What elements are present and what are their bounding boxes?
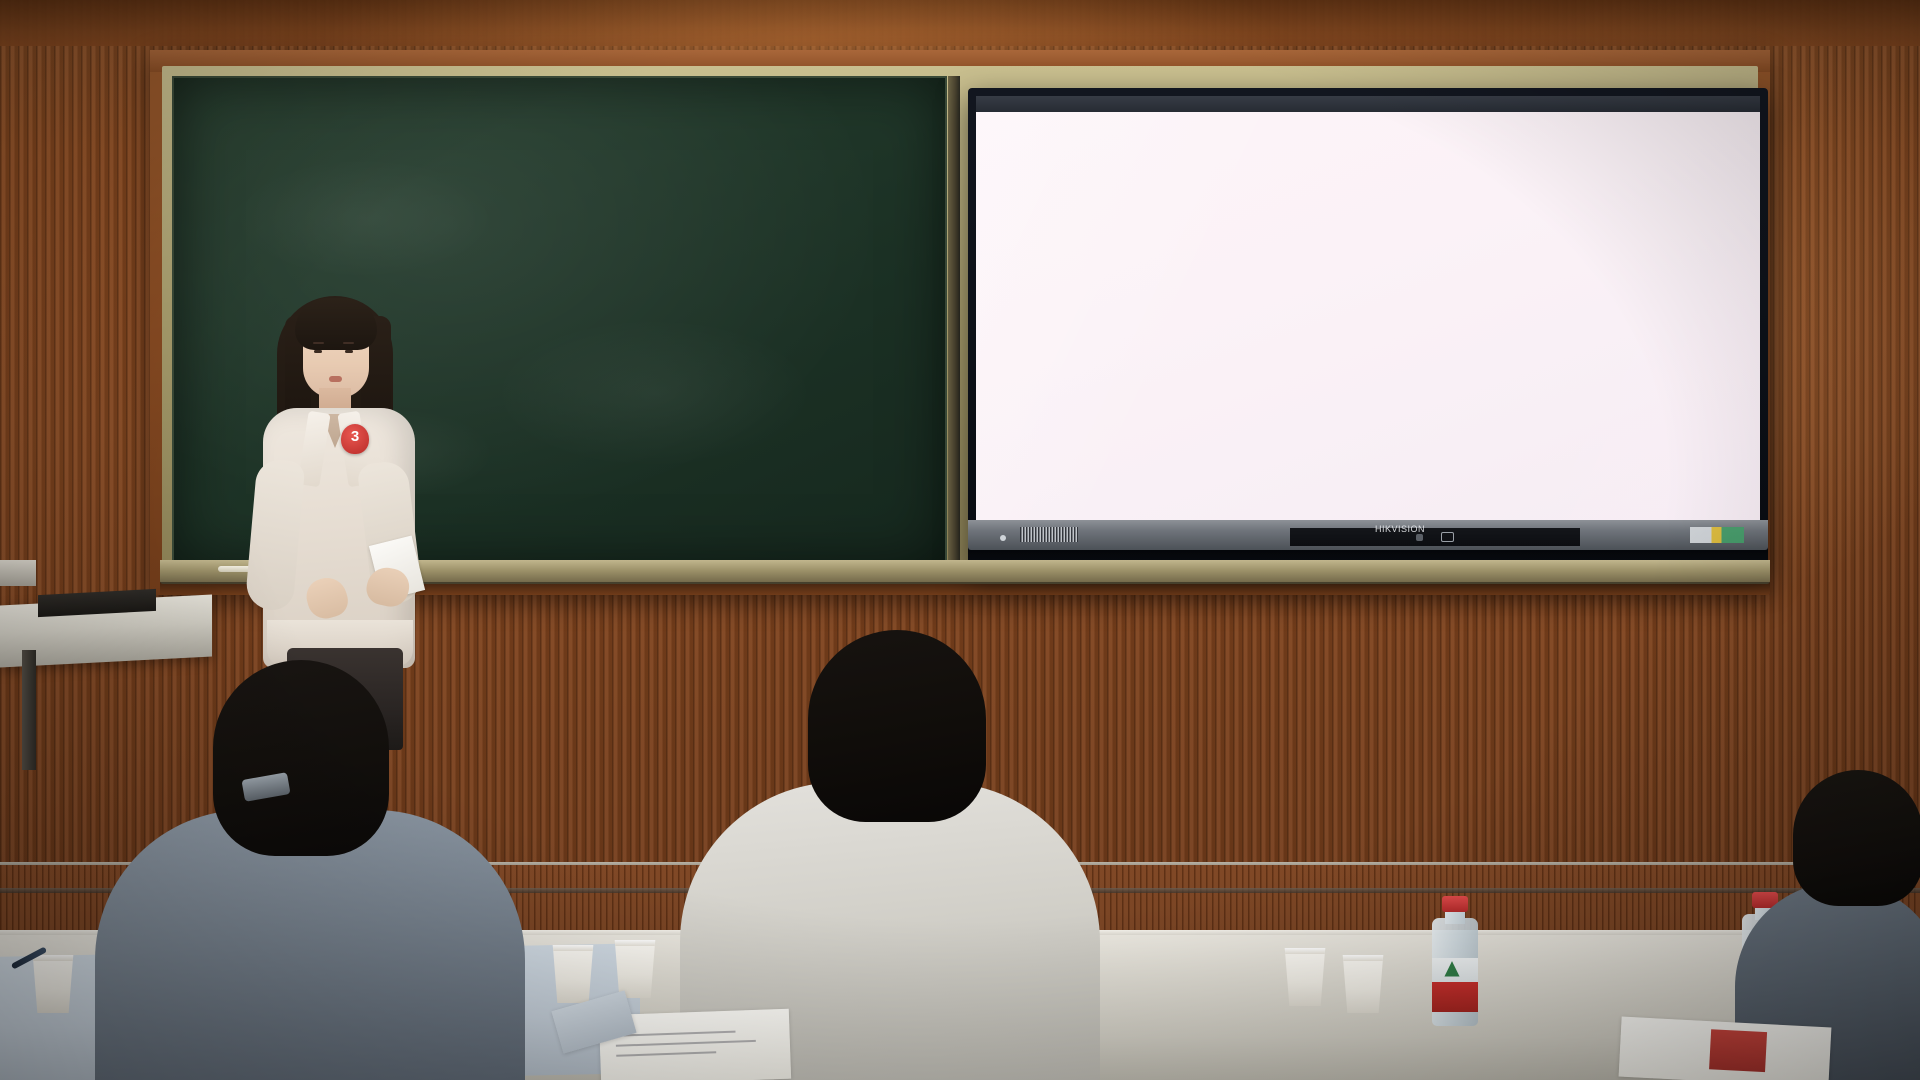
display-brand-logo: HIKVISION xyxy=(1330,524,1470,537)
shelf-support-post xyxy=(22,650,36,770)
classroom-scene: Teaching Context Teaching Objectives Tea… xyxy=(0,0,1920,1080)
display-energy-label xyxy=(1690,527,1744,543)
paper-cup[interactable] xyxy=(612,940,658,998)
paper-cup[interactable] xyxy=(550,945,596,1003)
water-bottle[interactable] xyxy=(1432,896,1478,1026)
teacher-badge-number: 3 xyxy=(341,428,369,445)
teacher-eyebrow-right xyxy=(343,342,354,344)
teacher-mouth xyxy=(329,376,342,382)
bottle-cap[interactable] xyxy=(1442,896,1468,912)
audience-member-front-left xyxy=(95,660,525,1080)
paper-cup[interactable] xyxy=(30,955,76,1013)
document-sheet[interactable] xyxy=(1619,1017,1832,1080)
audience-head xyxy=(1793,770,1920,906)
teacher-eye-left xyxy=(314,350,322,353)
teacher-eye-right xyxy=(345,350,353,353)
display-screen[interactable]: Teaching Context Teaching Objectives Tea… xyxy=(976,112,1760,520)
audience-head xyxy=(213,660,389,856)
wall-top-shadow xyxy=(0,0,1920,46)
teacher-eyebrow-left xyxy=(313,342,324,344)
side-equipment xyxy=(0,560,36,586)
audience-head xyxy=(808,630,986,822)
teacher-hair-front xyxy=(295,298,377,350)
paper-cup[interactable] xyxy=(1340,955,1386,1013)
chalkboard-divider xyxy=(948,76,960,568)
display-barcode-sticker xyxy=(1020,527,1078,542)
bottle-label-red xyxy=(1432,982,1478,1012)
paper-cup[interactable] xyxy=(1282,948,1328,1006)
display-power-led xyxy=(1000,535,1006,541)
